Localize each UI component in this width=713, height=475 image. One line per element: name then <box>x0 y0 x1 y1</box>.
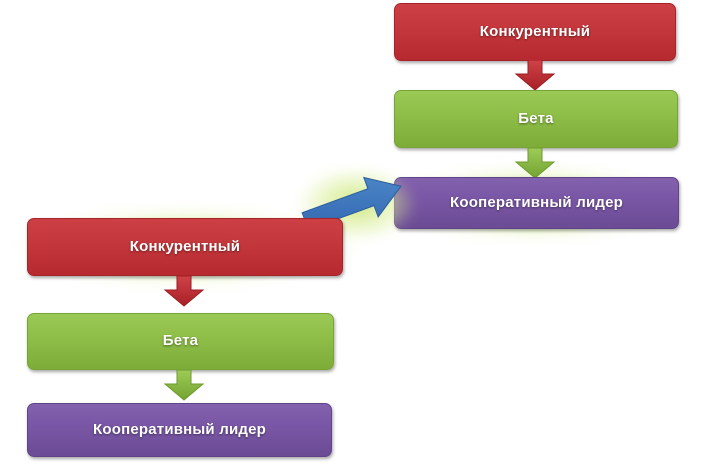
connector-arrow-right-green <box>514 148 556 179</box>
node-left-beta[interactable]: Бета <box>27 313 334 370</box>
diagram-canvas: Конкурентный Бета Кооперативный лидер <box>0 0 713 475</box>
node-left-cooperative-leader[interactable]: Кооперативный лидер <box>27 403 332 457</box>
node-label: Кооперативный лидер <box>450 195 623 212</box>
node-left-competitive[interactable]: Конкурентный <box>27 218 343 276</box>
node-right-beta[interactable]: Бета <box>394 90 678 148</box>
node-label: Конкурентный <box>480 24 590 41</box>
connector-arrow-right-red <box>514 60 556 91</box>
node-label: Бета <box>163 333 198 350</box>
connector-arrow-left-red <box>163 276 205 307</box>
node-label: Конкурентный <box>130 239 240 256</box>
connector-arrow-left-green <box>163 370 205 401</box>
node-label: Бета <box>518 111 553 128</box>
node-right-cooperative-leader[interactable]: Кооперативный лидер <box>394 177 679 229</box>
node-right-competitive[interactable]: Конкурентный <box>394 3 676 61</box>
node-label: Кооперативный лидер <box>93 422 266 439</box>
